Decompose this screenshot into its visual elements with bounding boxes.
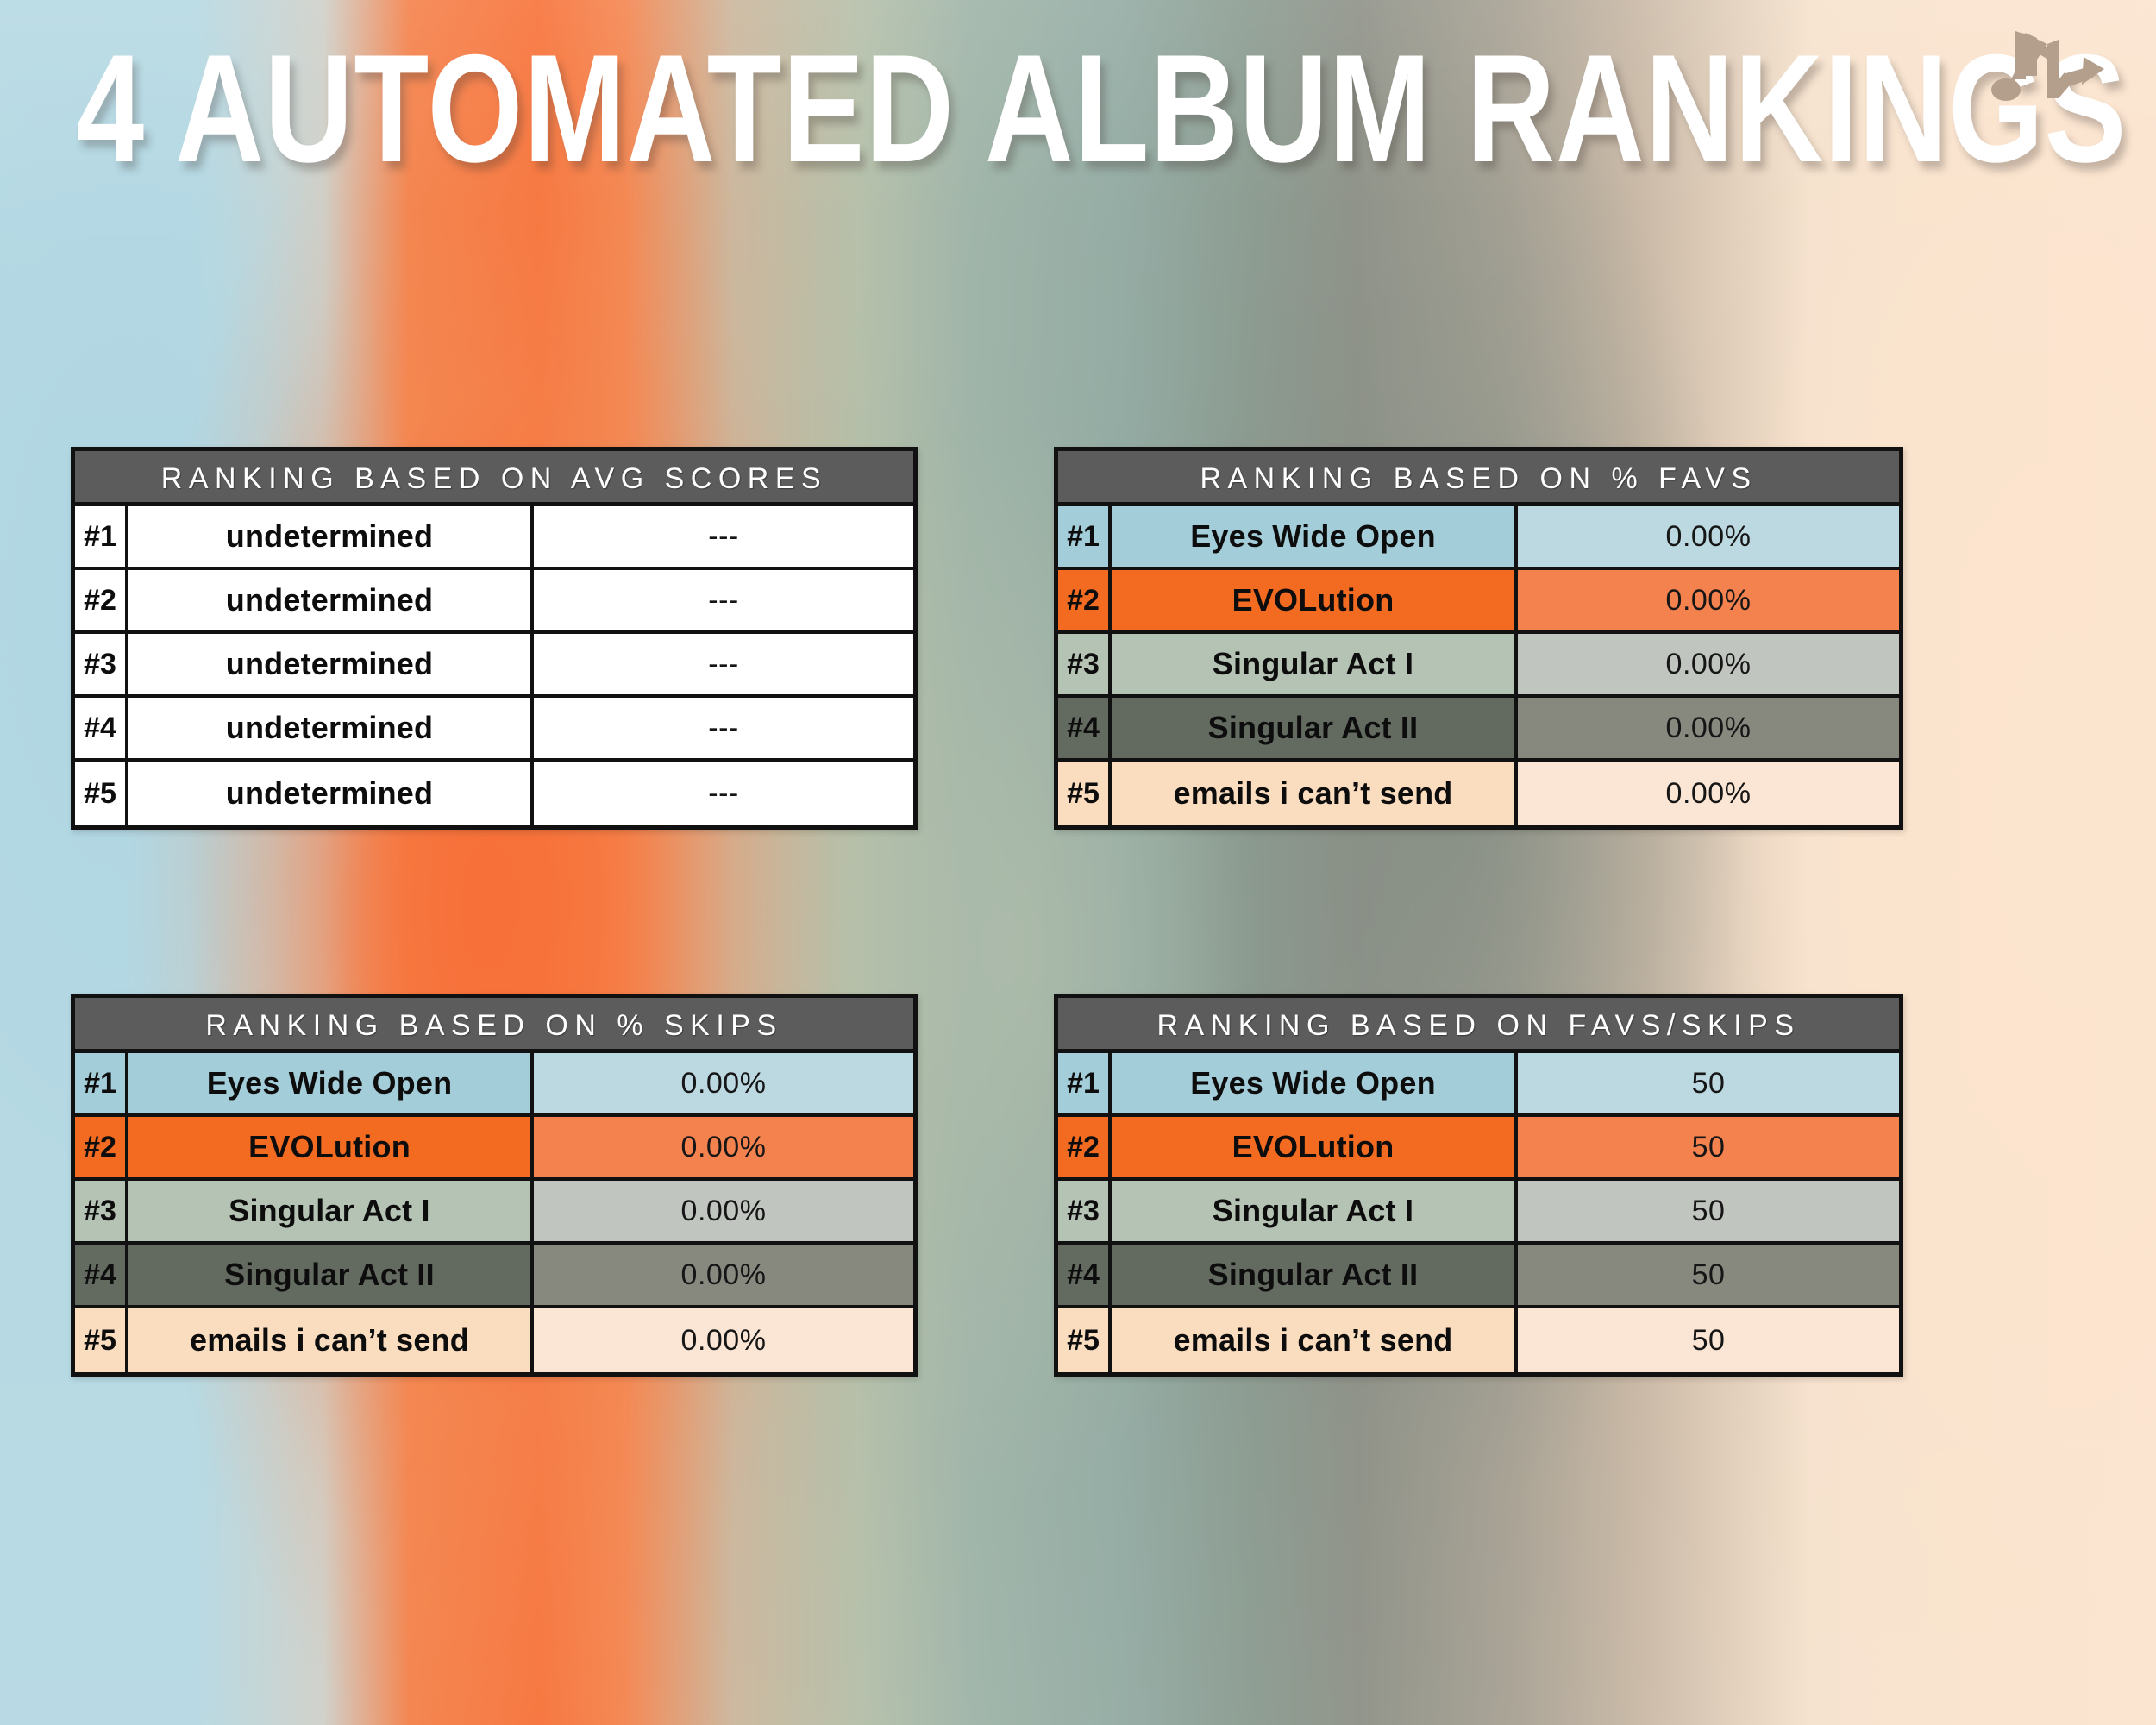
music-note-trend-chart-icon — [1973, 16, 2111, 154]
table-row[interactable]: #4 Singular Act II 0.00% — [75, 1245, 913, 1308]
rank-cell: #2 — [75, 570, 128, 630]
value-cell: 0.00% — [534, 1245, 913, 1305]
table-row[interactable]: #1 Eyes Wide Open 0.00% — [75, 1053, 913, 1117]
rank-cell: #2 — [75, 1117, 128, 1177]
album-name-cell: emails i can’t send — [128, 1308, 534, 1372]
background-vertical-sheen — [0, 0, 2156, 1725]
album-name-cell: Eyes Wide Open — [1112, 1053, 1518, 1113]
value-cell: 0.00% — [534, 1053, 913, 1113]
value-cell: 0.00% — [1518, 570, 1899, 630]
table-row[interactable]: #5 emails i can’t send 0.00% — [75, 1308, 913, 1372]
table-favs-skips: RANKING BASED ON FAVS/SKIPS #1 Eyes Wide… — [1054, 994, 1903, 1377]
table-body-favs-skips: #1 Eyes Wide Open 50 #2 EVOLution 50 #3 … — [1058, 1053, 1899, 1372]
album-name-cell: undetermined — [128, 506, 534, 567]
table-header-avg-scores: RANKING BASED ON AVG SCORES — [75, 451, 913, 506]
value-cell: --- — [534, 698, 913, 758]
table-row[interactable]: #2 EVOLution 0.00% — [75, 1117, 913, 1181]
album-name-cell: undetermined — [128, 762, 534, 825]
value-cell: 0.00% — [1518, 634, 1899, 694]
value-cell: --- — [534, 570, 913, 630]
table-avg-scores: RANKING BASED ON AVG SCORES #1 undetermi… — [71, 447, 918, 830]
table-row[interactable]: #2 EVOLution 50 — [1058, 1117, 1899, 1181]
album-name-cell: Singular Act II — [128, 1245, 534, 1305]
table-row[interactable]: #5 emails i can’t send 50 — [1058, 1308, 1899, 1372]
album-name-cell: Eyes Wide Open — [128, 1053, 534, 1113]
table-row[interactable]: #2 undetermined --- — [75, 570, 913, 634]
rank-cell: #5 — [1058, 762, 1112, 825]
table-row[interactable]: #3 Singular Act I 0.00% — [1058, 634, 1899, 698]
album-name-cell: Eyes Wide Open — [1112, 506, 1518, 567]
rank-cell: #5 — [1058, 1308, 1112, 1372]
table-row[interactable]: #3 Singular Act I 0.00% — [75, 1181, 913, 1245]
rank-cell: #4 — [75, 1245, 128, 1305]
table-row[interactable]: #1 Eyes Wide Open 0.00% — [1058, 506, 1899, 570]
table-row[interactable]: #3 undetermined --- — [75, 634, 913, 698]
table-body-pct-favs: #1 Eyes Wide Open 0.00% #2 EVOLution 0.0… — [1058, 506, 1899, 825]
table-row[interactable]: #4 Singular Act II 0.00% — [1058, 698, 1899, 762]
rank-cell: #1 — [75, 506, 128, 567]
album-name-cell: undetermined — [128, 570, 534, 630]
table-header-pct-favs: RANKING BASED ON % FAVS — [1058, 451, 1899, 506]
rank-cell: #2 — [1058, 1117, 1112, 1177]
value-cell: 0.00% — [1518, 762, 1899, 825]
value-cell: 0.00% — [534, 1117, 913, 1177]
rank-cell: #1 — [1058, 1053, 1112, 1113]
value-cell: 0.00% — [1518, 698, 1899, 758]
table-row[interactable]: #5 undetermined --- — [75, 762, 913, 825]
table-header-pct-skips: RANKING BASED ON % SKIPS — [75, 998, 913, 1053]
page-title: 4 AUTOMATED ALBUM RANKINGS — [76, 24, 2127, 193]
table-pct-favs: RANKING BASED ON % FAVS #1 Eyes Wide Ope… — [1054, 447, 1903, 830]
rank-cell: #5 — [75, 762, 128, 825]
rank-cell: #4 — [1058, 1245, 1112, 1305]
rank-cell: #1 — [75, 1053, 128, 1113]
rank-cell: #3 — [1058, 1181, 1112, 1241]
table-body-avg-scores: #1 undetermined --- #2 undetermined --- … — [75, 506, 913, 825]
album-name-cell: Singular Act II — [1112, 698, 1518, 758]
value-cell: 0.00% — [534, 1308, 913, 1372]
table-row[interactable]: #4 undetermined --- — [75, 698, 913, 762]
value-cell: --- — [534, 506, 913, 567]
album-name-cell: undetermined — [128, 634, 534, 694]
value-cell: 50 — [1518, 1053, 1899, 1113]
rank-cell: #3 — [75, 1181, 128, 1241]
table-row[interactable]: #1 undetermined --- — [75, 506, 913, 570]
rank-cell: #5 — [75, 1308, 128, 1372]
table-body-pct-skips: #1 Eyes Wide Open 0.00% #2 EVOLution 0.0… — [75, 1053, 913, 1372]
value-cell: --- — [534, 762, 913, 825]
value-cell: 50 — [1518, 1245, 1899, 1305]
album-name-cell: EVOLution — [1112, 570, 1518, 630]
table-row[interactable]: #2 EVOLution 0.00% — [1058, 570, 1899, 634]
rank-cell: #4 — [75, 698, 128, 758]
rank-cell: #1 — [1058, 506, 1112, 567]
table-header-favs-skips: RANKING BASED ON FAVS/SKIPS — [1058, 998, 1899, 1053]
value-cell: 50 — [1518, 1117, 1899, 1177]
value-cell: 0.00% — [1518, 506, 1899, 567]
album-name-cell: Singular Act I — [1112, 1181, 1518, 1241]
album-name-cell: EVOLution — [1112, 1117, 1518, 1177]
value-cell: --- — [534, 634, 913, 694]
rank-cell: #3 — [75, 634, 128, 694]
table-row[interactable]: #1 Eyes Wide Open 50 — [1058, 1053, 1899, 1117]
title-row: 4 AUTOMATED ALBUM RANKINGS — [0, 0, 2156, 233]
album-name-cell: Singular Act I — [128, 1181, 534, 1241]
album-name-cell: Singular Act II — [1112, 1245, 1518, 1305]
table-row[interactable]: #5 emails i can’t send 0.00% — [1058, 762, 1899, 825]
rank-cell: #2 — [1058, 570, 1112, 630]
background-gradient — [0, 0, 2156, 1725]
rank-cell: #4 — [1058, 698, 1112, 758]
value-cell: 50 — [1518, 1181, 1899, 1241]
rank-cell: #3 — [1058, 634, 1112, 694]
album-name-cell: Singular Act I — [1112, 634, 1518, 694]
value-cell: 50 — [1518, 1308, 1899, 1372]
album-name-cell: emails i can’t send — [1112, 762, 1518, 825]
table-row[interactable]: #3 Singular Act I 50 — [1058, 1181, 1899, 1245]
table-pct-skips: RANKING BASED ON % SKIPS #1 Eyes Wide Op… — [71, 994, 918, 1377]
album-name-cell: undetermined — [128, 698, 534, 758]
album-name-cell: emails i can’t send — [1112, 1308, 1518, 1372]
value-cell: 0.00% — [534, 1181, 913, 1241]
album-name-cell: EVOLution — [128, 1117, 534, 1177]
table-row[interactable]: #4 Singular Act II 50 — [1058, 1245, 1899, 1308]
